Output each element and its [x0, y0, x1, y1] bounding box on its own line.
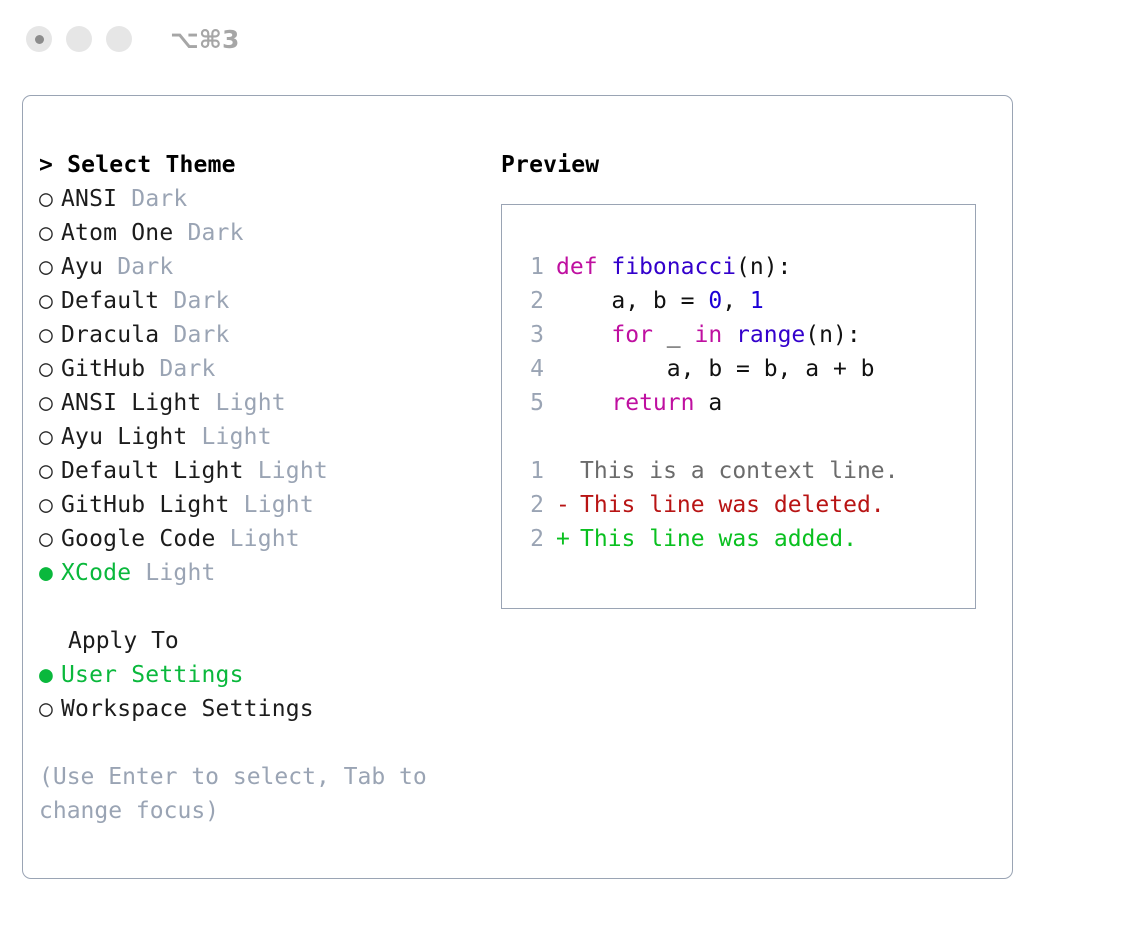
diff-line-number: 1	[520, 454, 544, 488]
theme-option-ansi-light[interactable]: ○ANSI Light Light	[39, 386, 509, 420]
traffic-light-active-dot	[35, 35, 44, 44]
preview-pane: Preview 1def fibonacci(n):2 a, b = 0, 13…	[501, 148, 1001, 609]
theme-option-mode-badge: Light	[230, 526, 300, 552]
code-token-plain	[722, 322, 736, 348]
code-token-plain: (n):	[736, 254, 791, 280]
diff-sign	[556, 454, 580, 488]
theme-option-dracula[interactable]: ○Dracula Dark	[39, 318, 509, 352]
theme-option-github-light[interactable]: ○GitHub Light Light	[39, 488, 509, 522]
diff-line-add: 2+This line was added.	[520, 522, 899, 556]
code-token-fn: range	[736, 322, 805, 348]
content-panel: > Select Theme ○ANSI Dark○Atom One Dark○…	[22, 95, 1013, 879]
theme-option-mode-badge: Dark	[159, 356, 215, 382]
theme-option-mode-badge: Light	[145, 560, 215, 586]
code-token-plain: _	[653, 322, 695, 348]
theme-option-mode-badge: Dark	[117, 254, 173, 280]
traffic-light-active[interactable]	[26, 26, 52, 52]
code-line-number: 1	[520, 250, 544, 284]
window-shortcut-label: ⌥⌘3	[170, 25, 239, 54]
code-token-kw: return	[611, 390, 694, 416]
code-token-num: 0	[708, 288, 722, 314]
theme-option-label: ANSI Light	[61, 390, 201, 416]
code-token-plain: a, b =	[556, 288, 708, 314]
radio-unselected-icon[interactable]: ○	[39, 522, 61, 556]
code-sample: 1def fibonacci(n):2 a, b = 0, 13 for _ i…	[520, 250, 899, 556]
code-line: 4 a, b = b, a + b	[520, 352, 899, 386]
terminal-window: ⌥⌘3 > Select Theme ○ANSI Dark○Atom One D…	[0, 0, 1140, 934]
code-line-number: 2	[520, 284, 544, 318]
code-token-plain: a, b = b, a + b	[556, 356, 875, 382]
radio-unselected-icon[interactable]: ○	[39, 352, 61, 386]
page-title: Select Theme	[67, 152, 236, 178]
apply-to-heading: Apply To	[39, 624, 509, 658]
diff-line-number: 2	[520, 488, 544, 522]
diff-line-number: 2	[520, 522, 544, 556]
code-line-number: 4	[520, 352, 544, 386]
theme-option-mode-badge: Dark	[131, 186, 187, 212]
diff-line-del: 2-This line was deleted.	[520, 488, 899, 522]
radio-unselected-icon[interactable]: ○	[39, 420, 61, 454]
theme-option-mode-badge: Light	[202, 424, 272, 450]
theme-option-mode-badge: Dark	[187, 220, 243, 246]
theme-option-label: GitHub	[61, 356, 145, 382]
code-token-plain: (n):	[805, 322, 860, 348]
code-token-plain	[556, 322, 611, 348]
apply-to-option-label: User Settings	[61, 662, 244, 688]
theme-option-mode-badge: Light	[216, 390, 286, 416]
theme-option-label: Google Code	[61, 526, 216, 552]
theme-option-label: Ayu	[61, 254, 103, 280]
diff-text: This line was deleted.	[580, 492, 885, 518]
preview-title: Preview	[501, 148, 1001, 182]
code-token-fn: fibonacci	[611, 254, 736, 280]
code-token-kw: for	[611, 322, 653, 348]
diff-text: This is a context line.	[580, 458, 899, 484]
theme-option-ansi[interactable]: ○ANSI Dark	[39, 182, 509, 216]
code-line-number: 5	[520, 386, 544, 420]
spacer	[39, 590, 509, 624]
theme-option-xcode[interactable]: ●XCode Light	[39, 556, 509, 590]
theme-option-label: Atom One	[61, 220, 173, 246]
radio-unselected-icon[interactable]: ○	[39, 386, 61, 420]
theme-picker: > Select Theme ○ANSI Dark○Atom One Dark○…	[39, 148, 509, 828]
radio-unselected-icon[interactable]: ○	[39, 216, 61, 250]
code-token-plain	[556, 390, 611, 416]
theme-option-mode-badge: Light	[258, 458, 328, 484]
diff-line-ctx: 1 This is a context line.	[520, 454, 899, 488]
theme-option-label: XCode	[61, 560, 131, 586]
theme-option-ayu[interactable]: ○Ayu Dark	[39, 250, 509, 284]
theme-option-label: ANSI	[61, 186, 117, 212]
diff-sign: +	[556, 522, 580, 556]
code-line: 5 return a	[520, 386, 899, 420]
code-token-plain: a	[694, 390, 722, 416]
traffic-light-3[interactable]	[106, 26, 132, 52]
code-line-number: 3	[520, 318, 544, 352]
apply-to-list: ●User Settings○Workspace Settings	[39, 658, 509, 726]
radio-unselected-icon[interactable]: ○	[39, 488, 61, 522]
theme-list: ○ANSI Dark○Atom One Dark○Ayu Dark○Defaul…	[39, 182, 509, 590]
diff-text: This line was added.	[580, 526, 857, 552]
code-token-kw: in	[694, 322, 722, 348]
theme-option-mode-badge: Light	[244, 492, 314, 518]
code-token-plain: ,	[722, 288, 750, 314]
radio-unselected-icon[interactable]: ○	[39, 182, 61, 216]
theme-option-mode-badge: Dark	[173, 288, 229, 314]
title-bar: ⌥⌘3	[0, 0, 1140, 78]
theme-option-label: Ayu Light	[61, 424, 187, 450]
traffic-light-2[interactable]	[66, 26, 92, 52]
code-token-kw: def	[556, 254, 611, 280]
code-line: 2 a, b = 0, 1	[520, 284, 899, 318]
theme-option-default-light[interactable]: ○Default Light Light	[39, 454, 509, 488]
apply-to-option-label: Workspace Settings	[61, 696, 314, 722]
radio-selected-icon[interactable]: ●	[39, 556, 61, 590]
theme-option-label: Default Light	[61, 458, 244, 484]
radio-unselected-icon[interactable]: ○	[39, 250, 61, 284]
code-blank-line	[520, 420, 899, 454]
theme-option-label: Default	[61, 288, 159, 314]
radio-selected-icon[interactable]: ●	[39, 658, 61, 692]
code-line: 3 for _ in range(n):	[520, 318, 899, 352]
theme-option-label: Dracula	[61, 322, 159, 348]
radio-unselected-icon[interactable]: ○	[39, 454, 61, 488]
theme-option-default[interactable]: ○Default Dark	[39, 284, 509, 318]
preview-box: 1def fibonacci(n):2 a, b = 0, 13 for _ i…	[501, 204, 976, 609]
theme-option-label: GitHub Light	[61, 492, 230, 518]
theme-option-mode-badge: Dark	[173, 322, 229, 348]
radio-unselected-icon[interactable]: ○	[39, 318, 61, 352]
keyboard-hint: (Use Enter to select, Tab to change focu…	[39, 760, 449, 828]
theme-option-github[interactable]: ○GitHub Dark	[39, 352, 509, 386]
code-line: 1def fibonacci(n):	[520, 250, 899, 284]
prompt-caret-icon: >	[39, 152, 53, 178]
radio-unselected-icon[interactable]: ○	[39, 692, 61, 726]
theme-option-atom-one[interactable]: ○Atom One Dark	[39, 216, 509, 250]
diff-sign: -	[556, 488, 580, 522]
radio-unselected-icon[interactable]: ○	[39, 284, 61, 318]
apply-to-option-user-settings[interactable]: ●User Settings	[39, 658, 509, 692]
theme-picker-heading: > Select Theme	[39, 148, 509, 182]
theme-option-ayu-light[interactable]: ○Ayu Light Light	[39, 420, 509, 454]
apply-to-option-workspace-settings[interactable]: ○Workspace Settings	[39, 692, 509, 726]
theme-option-google-code[interactable]: ○Google Code Light	[39, 522, 509, 556]
code-token-num: 1	[750, 288, 764, 314]
